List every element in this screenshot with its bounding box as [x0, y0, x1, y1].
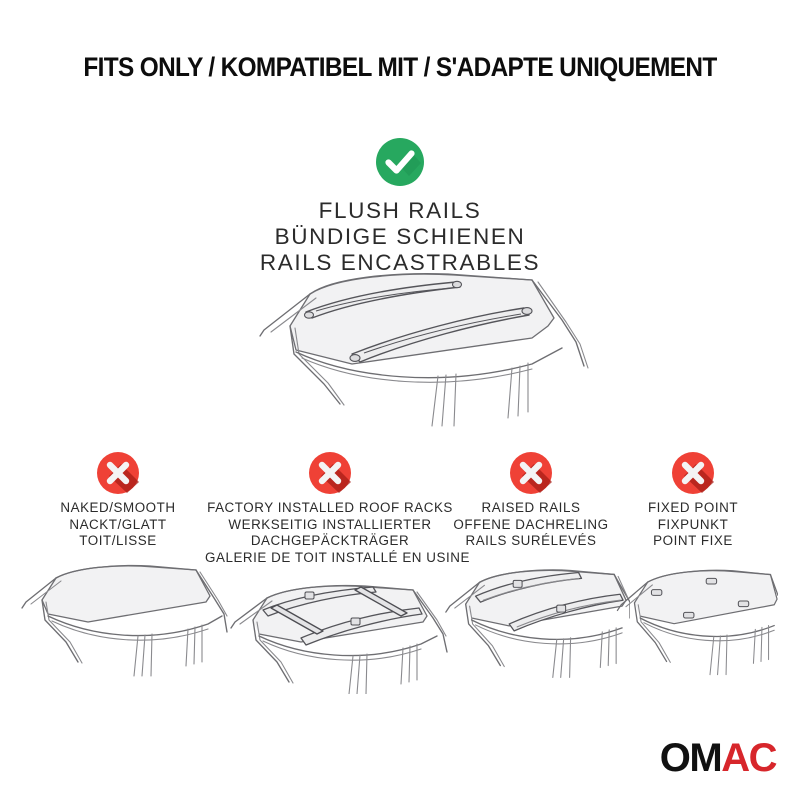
red-x-circle-icon: [510, 452, 552, 494]
flush-rails-label-en: FLUSH RAILS: [0, 198, 800, 224]
factory-roof-racks-label-de-2: DACHGEPÄCKTRÄGER: [205, 533, 455, 550]
incompatible-option-factory-roof-racks: FACTORY INSTALLED ROOF RACKS WERKSEITIG …: [205, 452, 455, 694]
raised-rails-label-fr: RAILS SURÉLEVÉS: [432, 533, 630, 550]
raised-rails-label-en: RAISED RAILS: [432, 500, 630, 517]
incompatible-options-row: NAKED/SMOOTH NACKT/GLATT TOIT/LISSE: [0, 452, 800, 702]
factory-roof-racks-label-en: FACTORY INSTALLED ROOF RACKS: [205, 500, 455, 517]
raised-rails-label-de: OFFENE DACHRELING: [432, 517, 630, 534]
page-title: FITS ONLY / KOMPATIBEL MIT / S'ADAPTE UN…: [32, 52, 768, 83]
car-roof-with-raised-rails-illustration: [432, 558, 630, 678]
factory-roof-racks-label-fr: GALERIE DE TOIT INSTALLÉ EN USINE: [205, 550, 455, 567]
incompatible-option-naked-smooth: NAKED/SMOOTH NACKT/GLATT TOIT/LISSE: [8, 452, 228, 678]
car-roof-fixed-point-illustration: [608, 558, 778, 678]
flush-rails-label-de: BÜNDIGE SCHIENEN: [0, 224, 800, 250]
factory-roof-racks-label-de-1: WERKSEITIG INSTALLIERTER: [205, 517, 455, 534]
fixed-point-label-en: FIXED POINT: [608, 500, 778, 517]
red-x-circle-icon: [97, 452, 139, 494]
car-roof-with-factory-roof-racks-illustration: [205, 574, 455, 694]
flush-rails-labels: FLUSH RAILS BÜNDIGE SCHIENEN RAILS ENCAS…: [0, 198, 800, 276]
incompatible-option-raised-rails: RAISED RAILS OFFENE DACHRELING RAILS SUR…: [432, 452, 630, 678]
car-roof-naked-smooth-illustration: [8, 558, 228, 678]
raised-rails-labels: RAISED RAILS OFFENE DACHRELING RAILS SUR…: [432, 500, 630, 550]
naked-smooth-label-en: NAKED/SMOOTH: [8, 500, 228, 517]
naked-smooth-label-fr: TOIT/LISSE: [8, 533, 228, 550]
factory-roof-racks-labels: FACTORY INSTALLED ROOF RACKS WERKSEITIG …: [205, 500, 455, 566]
fixed-point-label-de: FIXPUNKT: [608, 517, 778, 534]
red-x-circle-icon: [672, 452, 714, 494]
compatible-option-flush-rails: FLUSH RAILS BÜNDIGE SCHIENEN RAILS ENCAS…: [0, 138, 800, 276]
car-roof-with-flush-rails-illustration: [232, 268, 592, 428]
red-x-circle-icon: [309, 452, 351, 494]
omac-logo-part-1: OM: [660, 736, 721, 780]
naked-smooth-labels: NAKED/SMOOTH NACKT/GLATT TOIT/LISSE: [8, 500, 228, 550]
incompatible-option-fixed-point: FIXED POINT FIXPUNKT POINT FIXE: [608, 452, 778, 678]
omac-logo: OMAC: [660, 738, 776, 778]
fixed-point-label-fr: POINT FIXE: [608, 533, 778, 550]
green-check-circle-icon: [376, 138, 424, 186]
fixed-point-labels: FIXED POINT FIXPUNKT POINT FIXE: [608, 500, 778, 550]
omac-logo-part-2: AC: [721, 736, 776, 780]
naked-smooth-label-de: NACKT/GLATT: [8, 517, 228, 534]
